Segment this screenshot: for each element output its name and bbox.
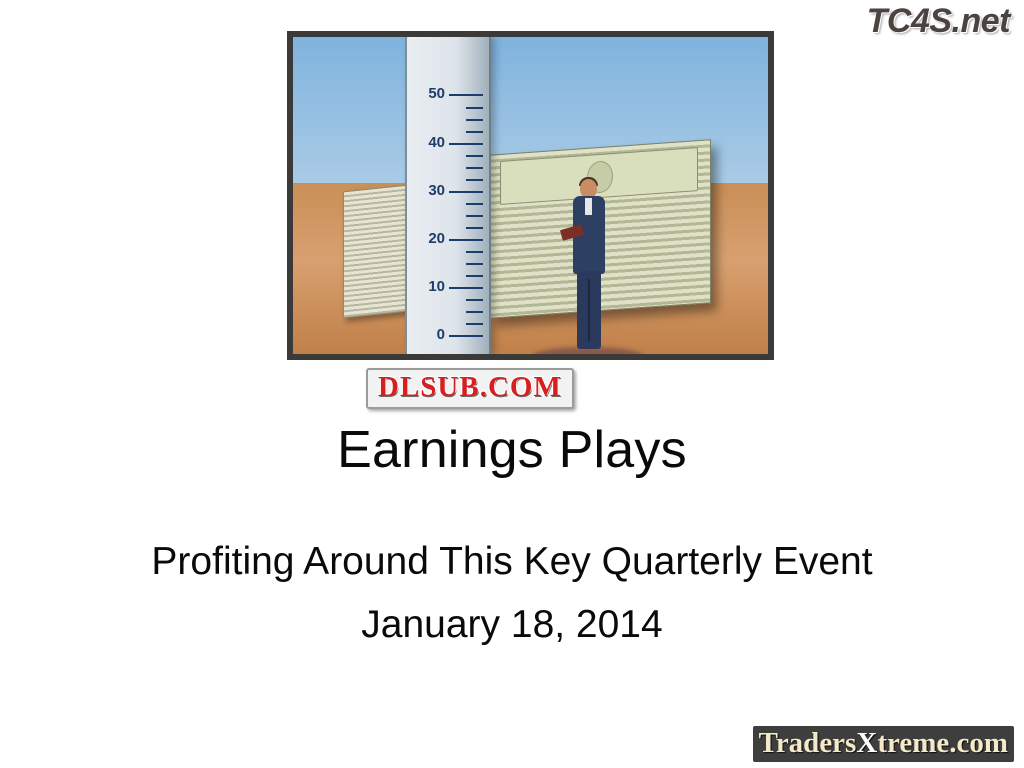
ruler-label-50: 50: [428, 85, 445, 102]
ruler-label-20: 20: [428, 230, 445, 247]
bottom-right-watermark: TradersXtreme.com: [753, 726, 1014, 762]
businessman-figure: [569, 179, 609, 359]
brand-highlight: X: [856, 727, 877, 759]
ruler-label-30: 30: [428, 182, 445, 199]
slide-date: January 18, 2014: [0, 603, 1024, 647]
top-right-watermark: TC4S.net: [867, 2, 1010, 41]
brand-prefix: Traders: [759, 727, 857, 759]
ruler-label-40: 40: [428, 134, 445, 151]
brand-suffix: treme.com: [877, 727, 1008, 759]
slide-title: Earnings Plays: [0, 420, 1024, 480]
dlsub-watermark-stamp: DLSUB.COM: [366, 368, 574, 409]
slide-subtitle: Profiting Around This Key Quarterly Even…: [0, 540, 1024, 584]
ruler-label-10: 10: [428, 278, 445, 295]
slide-illustration: 50 40 30 20 10 0: [287, 31, 774, 360]
ruler-label-0: 0: [437, 326, 445, 343]
measuring-ruler: 50 40 30 20 10 0: [405, 37, 491, 354]
